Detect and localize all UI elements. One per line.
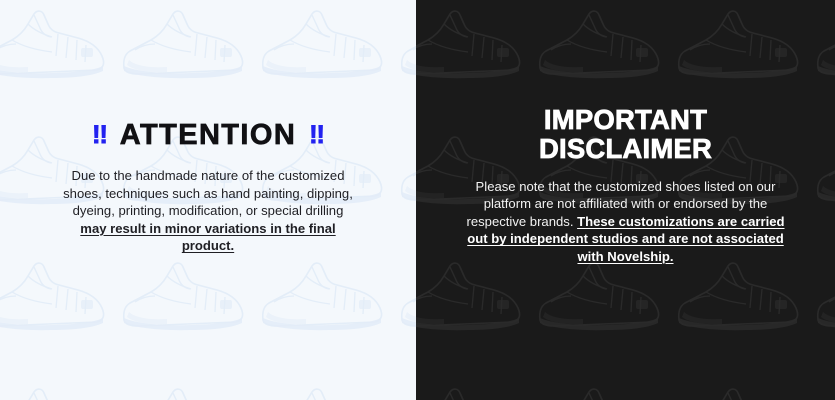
attention-body-emphasis: may result in minor variations in the fi… [80, 221, 335, 254]
disclaimer-body-text: Please note that the customized shoes li… [466, 178, 786, 266]
disclaimer-banner: !! ATTENTION !! Due to the handmade natu… [0, 0, 835, 400]
disclaimer-heading-line-2: DISCLAIMER [539, 134, 712, 163]
attention-body-text: Due to the handmade nature of the custom… [58, 167, 358, 255]
disclaimer-heading: IMPORTANT DISCLAIMER [539, 105, 712, 163]
attention-heading: !! ATTENTION !! [92, 121, 324, 150]
attention-panel: !! ATTENTION !! Due to the handmade natu… [0, 0, 416, 400]
exclamation-marks-right-icon: !! [309, 123, 324, 148]
disclaimer-heading-line-1: IMPORTANT [539, 105, 712, 134]
attention-body-normal: Due to the handmade nature of the custom… [63, 168, 353, 218]
attention-heading-text: ATTENTION [120, 121, 296, 150]
important-disclaimer-panel: IMPORTANT DISCLAIMER Please note that th… [416, 0, 835, 400]
exclamation-marks-left-icon: !! [92, 123, 107, 148]
